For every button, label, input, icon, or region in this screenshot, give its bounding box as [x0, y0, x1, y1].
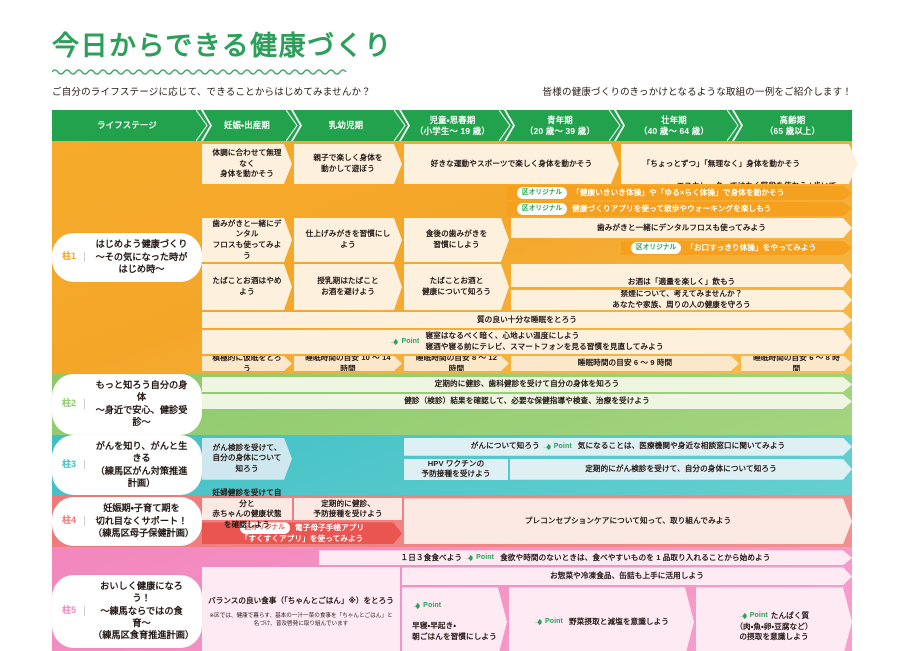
three-meals-row: １日３食食べよう Point 食欲や時間のないときは、食べやすいものを 1 品取… [202, 550, 852, 565]
cell-move-mature-senior: 「ちょっとずつ」「無理なく」身体を動かそう Point エスカレーターではなく階… [621, 144, 858, 184]
pillar-4-pill[interactable]: 柱4 妊娠期・子育て期を 切れ目なくサポート！ （練馬区母子保健計画） [52, 497, 202, 545]
lead-text-right: 皆様の健康づくりのきっかけとなるような取組の一例をご紹介します！ [543, 84, 852, 98]
ku-original-badge: 区オリジナル [517, 187, 567, 199]
cell-teeth-pregnancy: 歯みがきと一緒にデンタル フロスも使ってみよう [202, 218, 292, 262]
banner-health-app[interactable]: 区オリジナル健康づくりアプリを使って散歩やウォーキングを楽しもう [507, 202, 852, 216]
cell-checkup-followup: 健診（検診）結果を確認して、必要な保健指導や検査、治療を受けよう [202, 394, 852, 409]
cell-teeth-child: 食後の歯みがきを 習慣にしよう [404, 218, 509, 262]
column-header-pregnancy: 妊娠・出産期 [202, 110, 292, 141]
cell-smoke-child: たばことお酒と 健康について知ろう [404, 264, 509, 310]
column-header-infant: 乳幼児期 [292, 110, 400, 141]
column-header-young-adult: 青年期 （20 歳〜 39 歳） [505, 110, 615, 141]
smoking-alcohol-row: たばことお酒はやめよう 授乳期はたばこと お酒を避けよう たばことお酒と 健康に… [202, 264, 852, 310]
pillar-5-content: １日３食食べよう Point 食欲や時間のないときは、食べやすいものを 1 品取… [202, 547, 852, 651]
banner-taiso[interactable]: 区オリジナル「健康いきいき体操」や「ゆる×らく体操」で身体を動かそう [507, 186, 852, 200]
pillar-3-number: 柱3 [62, 460, 85, 470]
cell-sleep-senior: 睡眠時間の目安 6 〜 8 時間 [741, 356, 852, 371]
cell-balanced-diet: バランスの良い食事（「ちゃんとごはん」※）をとろう [208, 596, 394, 607]
point-icon: Point [412, 601, 494, 611]
balanced-diet-note: ※区では、健康で暮らす、基本の一汁一菜の食事を「ちゃんとごはん」と 名づけ、普及… [209, 612, 392, 628]
app-banner-row: 区オリジナル健康づくりアプリを使って散歩やウォーキングを楽しもう [202, 202, 852, 216]
cell-infant-checkup: 定期的に健診、 予防接種を受けよう [294, 498, 402, 520]
cell-sleep-adult: 睡眠時間の目安 6 〜 9 時間 [511, 356, 739, 371]
pillar-2-pill[interactable]: 柱2 もっと知ろう自分の身体 〜身近で安心、健診受診〜 [52, 374, 202, 435]
taiso-banner-row: 区オリジナル「健康いきいき体操」や「ゆる×らく体操」で身体を動かそう [202, 186, 852, 200]
pillar-1-number: 柱1 [62, 252, 85, 262]
pointing-hand-icon [412, 602, 421, 610]
cancer-row: がん検診を受けて、 自分の身体について知ろう がんについて知ろう Point 気… [202, 438, 852, 480]
pillar-1-title: はじめよう健康づくり 〜その気になった時がはじめ時〜 [93, 238, 190, 275]
point-icon: Point [534, 617, 563, 627]
pillar-1-label-cell: 柱1 はじめよう健康づくり 〜その気になった時がはじめ時〜 [52, 141, 202, 374]
pointing-hand-icon [534, 618, 543, 626]
balanced-diet-row: バランスの良い食事（「ちゃんとごはん」※）をとろう ※区では、健康で暮らす、基本… [202, 567, 852, 651]
pillar-3-pill[interactable]: 柱3 がんを知り、がんと生きる （練馬区がん対策推進計画） [52, 435, 202, 496]
pillar-3-title: がんを知り、がんと生きる （練馬区がん対策推進計画） [93, 440, 190, 490]
pillar-1-pill[interactable]: 柱1 はじめよう健康づくり 〜その気になった時がはじめ時〜 [52, 233, 202, 281]
maternal-row: 妊婦健診を受けて自分と 赤ちゃんの健康状態を確認しよう 定期的に健診、 予防接種… [202, 498, 852, 544]
pillar-5-label-cell: 柱5 おいしく健康になろう！ 〜練馬ならではの食育〜 （練馬区食育推進計画） [52, 547, 202, 651]
cell-regular-checkup: 定期的に健診、歯科健診を受けて自分の身体を知ろう [202, 377, 852, 392]
pillar-4-title: 妊娠期・子育て期を 切れ目なくサポート！ （練馬区母子保健計画） [93, 502, 190, 539]
lifestage-matrix: ライフステージ 妊娠・出産期 乳幼児期 児童・思春期 （小学生〜 19 歳） 青… [52, 110, 852, 651]
checkup-row-1: 定期的に健診、歯科健診を受けて自分の身体を知ろう [202, 377, 852, 392]
cell-sleep-infant: 睡眠時間の目安 10 〜 14 時間 [294, 356, 402, 371]
pillar-1-content: 体調に合わせて無理なく 身体を動かそう 親子で楽しく身体を 動かして遊ぼう 好き… [202, 141, 852, 374]
pillar-2-title: もっと知ろう自分の身体 〜身近で安心、健診受診〜 [93, 379, 190, 429]
pillar-2-content: 定期的に健診、歯科健診を受けて自分の身体を知ろう 健診（検診）結果を確認して、必… [202, 374, 852, 435]
pillar-4-label-cell: 柱4 妊娠期・子育て期を 切れ目なくサポート！ （練馬区母子保健計画） [52, 495, 202, 547]
wave-underline-icon [52, 68, 348, 75]
pillar-4-content: 妊婦健診を受けて自分と 赤ちゃんの健康状態を確認しよう 定期的に健診、 予防接種… [202, 495, 852, 547]
column-header-child-adolescent: 児童・思春期 （小学生〜 19 歳） [400, 110, 505, 141]
column-header-row: ライフステージ 妊娠・出産期 乳幼児期 児童・思春期 （小学生〜 19 歳） 青… [52, 110, 852, 141]
cell-sleep-point: Point 寝室はなるべく暗く、心地よい温度にしよう 寝酒や寝る前にテレビ、スマ… [202, 330, 852, 354]
pillar-2-band: 柱2 もっと知ろう自分の身体 〜身近で安心、健診受診〜 定期的に健診、歯科健診を… [52, 374, 852, 435]
pointing-hand-icon [739, 612, 748, 620]
cell-teeth-infant: 仕上げみがきを習慣にしよう [294, 218, 402, 262]
pillar-5-title: おいしく健康になろう！ 〜練馬ならではの食育〜 （練馬区食育推進計画） [93, 580, 190, 642]
checkup-row-2: 健診（検診）結果を確認して、必要な保健指導や検査、治療を受けよう [202, 394, 852, 409]
point-icon: Point [465, 553, 494, 563]
column-header-middle-age: 壮年期 （40 歳〜 64 歳） [615, 110, 733, 141]
cell-preconception-care: プレコンセプションケアについて知って、取り組んでみよう [404, 498, 852, 544]
cell-smoke-infant: 授乳期はたばこと お酒を避けよう [294, 264, 402, 310]
page-title: 今日からできる健康づくり [52, 32, 393, 62]
pointing-hand-icon [465, 554, 474, 562]
sleep-hours-row: 積極的に仮眠をとろう 睡眠時間の目安 10 〜 14 時間 睡眠時間の目安 8 … [202, 356, 852, 371]
lead-text-left: ご自分のライフステージに応じて、できることからはじめてみませんか？ [52, 84, 371, 98]
pillar-3-content: がん検診を受けて、 自分の身体について知ろう がんについて知ろう Point 気… [202, 435, 852, 496]
ku-original-badge: 区オリジナル [631, 242, 681, 254]
banner-mouth-exercise[interactable]: 区オリジナル「お口すっきり体操」をやってみよう [621, 241, 852, 255]
cell-regular-cancer-screening: 定期的にがん検診を受けて、自分の身体について知ろう [510, 459, 852, 480]
cell-sleep-child: 睡眠時間の目安 8 〜 12 時間 [404, 356, 509, 371]
cell-smoke-pregnancy: たばことお酒はやめよう [202, 264, 292, 310]
cell-move-pregnancy: 体調に合わせて無理なく 身体を動かそう [202, 144, 292, 184]
page-header: 今日からできる健康づくり [52, 32, 393, 80]
point-icon: Point [390, 337, 419, 347]
sleep-point-row: Point 寝室はなるべく暗く、心地よい温度にしよう 寝酒や寝る前にテレビ、スマ… [202, 330, 852, 354]
cell-sleep-nap: 積極的に仮眠をとろう [202, 356, 292, 371]
sleep-quality-row: 質の良い十分な睡眠をとろう [202, 312, 852, 328]
point-icon: Point [739, 611, 768, 621]
pillar-5-band: 柱5 おいしく健康になろう！ 〜練馬ならではの食育〜 （練馬区食育推進計画） １… [52, 547, 852, 651]
pillar-4-band: 柱4 妊娠期・子育て期を 切れ目なくサポート！ （練馬区母子保健計画） 妊婦健診… [52, 495, 852, 547]
health-promotion-poster: 今日からできる健康づくり ご自分のライフステージに応じて、できることからはじめて… [0, 0, 900, 651]
cell-move-infant: 親子で楽しく身体を 動かして遊ぼう [294, 144, 402, 184]
cell-cancer-pregnancy: がん検診を受けて、 自分の身体について知ろう [202, 438, 292, 480]
pointing-hand-icon [390, 338, 399, 346]
cell-alcohol: お酒は「適量を楽しく」飲もう Point 休肝日をつくる、時間や量を決めるなど飲… [511, 264, 852, 287]
cell-souzai: お惣菜や冷凍食品、缶詰も上手に活用しよう [402, 567, 852, 585]
point-icon: Point [543, 442, 572, 452]
exercise-row-a: 体調に合わせて無理なく 身体を動かそう 親子で楽しく身体を 動かして遊ぼう 好き… [202, 144, 852, 184]
cell-yasai: Point 野菜摂取と減塩を意識しよう [509, 587, 694, 651]
cell-sleep-quality: 質の良い十分な睡眠をとろう [202, 312, 852, 328]
pillar-2-number: 柱2 [62, 399, 85, 409]
pillar-1-band: 柱1 はじめよう健康づくり 〜その気になった時がはじめ時〜 体調に合わせて無理な… [52, 141, 852, 374]
cell-asagohan: Point 早寝・早起き・ 朝ごはんを習慣にしよう [402, 587, 507, 651]
ku-original-badge: 区オリジナル [517, 203, 567, 215]
column-header-senior: 高齢期 （65 歳以上） [733, 110, 852, 141]
pointing-hand-icon [543, 443, 552, 451]
cell-three-meals: １日３食食べよう Point 食欲や時間のないときは、食べやすいものを 1 品取… [319, 550, 852, 565]
cell-know-cancer: がんについて知ろう Point 気になることは、医療機関や身近な相談窓口に聞いて… [404, 438, 852, 456]
cell-smoking-cessation: 禁煙について、考えてみませんか？ あなたや家族、周りの人の健康を守ろう [511, 290, 852, 310]
pillar-5-pill[interactable]: 柱5 おいしく健康になろう！ 〜練馬ならではの食育〜 （練馬区食育推進計画） [52, 575, 202, 648]
cell-protein: Point たんぱく質 （肉・魚・卵・豆腐など） の摂取を意識しよう [696, 587, 852, 651]
pillar-3-band: 柱3 がんを知り、がんと生きる （練馬区がん対策推進計画） がん検診を受けて、 … [52, 435, 852, 496]
pillar-4-number: 柱4 [62, 516, 85, 526]
cell-move-child-youth: 好きな運動やスポーツで楽しく身体を動かそう [404, 144, 619, 184]
cell-hpv-vaccine: HPV ワクチンの 予防接種を受けよう [404, 459, 508, 480]
teeth-row: 歯みがきと一緒にデンタル フロスも使ってみよう 仕上げみがきを習慣にしよう 食後… [202, 218, 852, 262]
column-header-lifestage: ライフステージ [52, 110, 202, 141]
cell-teeth-adult: 歯みがきと一緒にデンタルフロスも使ってみよう [511, 218, 852, 238]
pillar-3-label-cell: 柱3 がんを知り、がんと生きる （練馬区がん対策推進計画） [52, 435, 202, 496]
pillar-5-number: 柱5 [62, 606, 85, 616]
cell-maternal-checkup: 妊婦健診を受けて自分と 赤ちゃんの健康状態を確認しよう [202, 498, 292, 520]
pillar-2-label-cell: 柱2 もっと知ろう自分の身体 〜身近で安心、健診受診〜 [52, 374, 202, 435]
